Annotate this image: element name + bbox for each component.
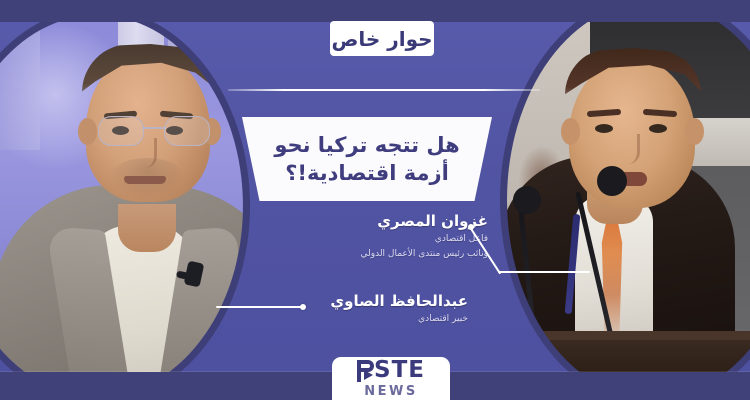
logo-play-p-icon [357, 360, 374, 382]
headline-line-2: أزمة اقتصادية!؟ [285, 160, 449, 188]
guest-2-connector-line [216, 306, 302, 308]
guest-2-name: عبدالحافظ الصاوي [330, 292, 468, 311]
news-graphic: حوار خاص هل تتجه تركيا نحو أزمة اقتصادية… [0, 0, 750, 400]
header-divider [228, 89, 540, 91]
logo-wordmark: STE [357, 359, 425, 382]
top-band [0, 0, 750, 22]
guest-2-role-line-1: خبير اقتصادي [330, 313, 468, 326]
guest-label-1: غزوان المصري فاعل اقتصادي ونائب رئيس منت… [361, 212, 489, 261]
logo-text-news: NEWS [364, 385, 417, 398]
logo-text-step: STE [374, 359, 425, 382]
headline-line-1: هل تتجه تركيا نحو [274, 132, 459, 160]
guest-1-role-line-2: ونائب رئيس منتدى الأعمال الدولي [361, 248, 489, 261]
guest-1-role-line-1: فاعل اقتصادي [361, 233, 489, 246]
headline-plaque: هل تتجه تركيا نحو أزمة اقتصادية!؟ [242, 117, 492, 201]
program-badge: حوار خاص [330, 21, 434, 56]
program-badge-label: حوار خاص [331, 29, 432, 49]
guest-1-connector-line [498, 271, 590, 273]
step-news-logo: STE NEWS [332, 357, 450, 400]
guest-label-2: عبدالحافظ الصاوي خبير اقتصادي [330, 292, 468, 326]
